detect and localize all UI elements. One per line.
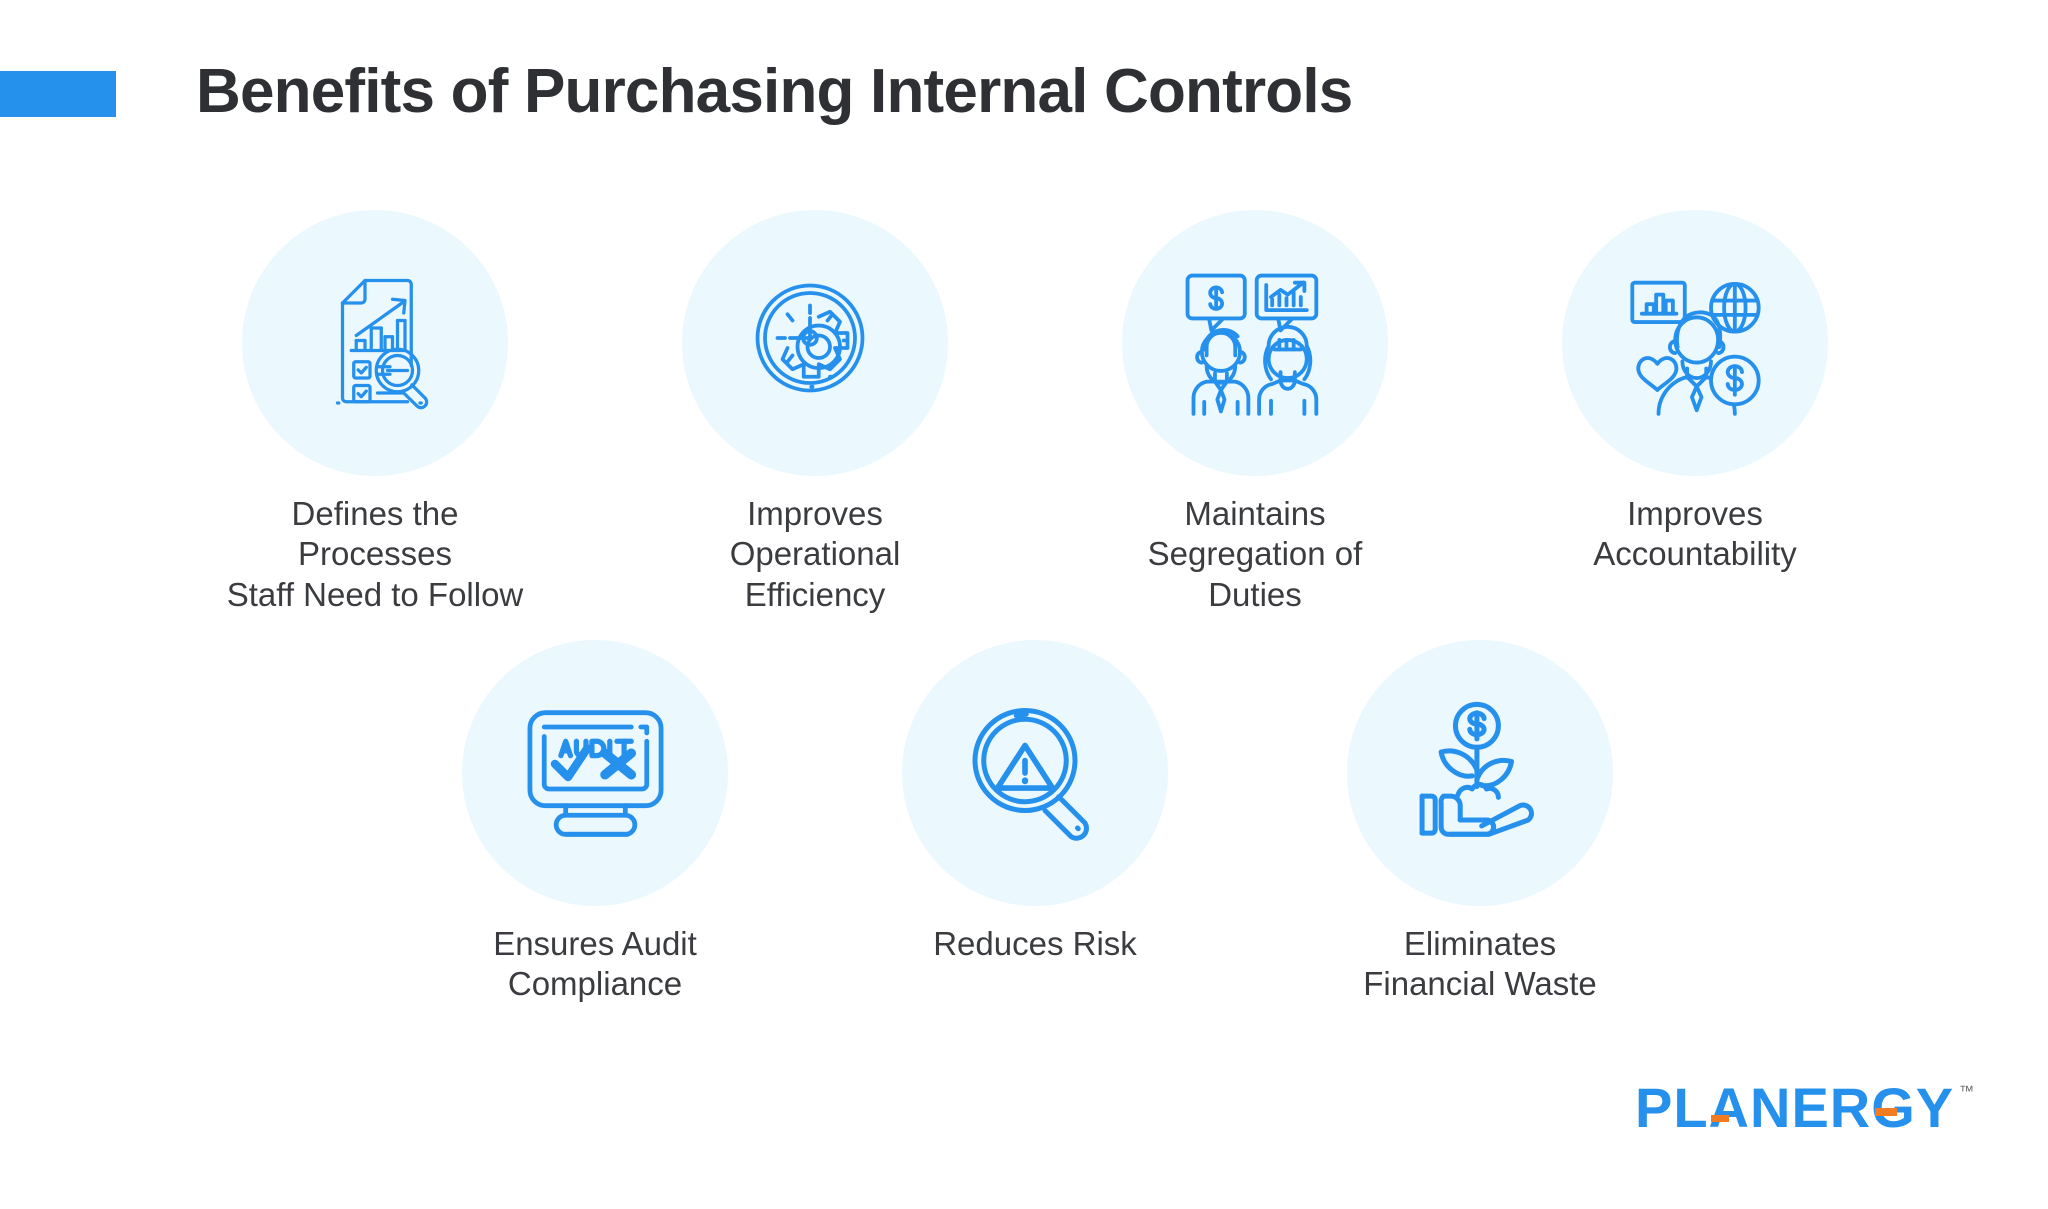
logo-accent-a [1711, 1115, 1729, 1122]
icon-circle [242, 210, 508, 476]
planergy-wordmark-icon: PLANERGY [1635, 1079, 1955, 1143]
logo-wordmark: PLANERGY [1635, 1079, 1955, 1148]
clock-gear-icon [740, 268, 890, 418]
benefit-card-operational-efficiency: Improves Operational Efficiency [665, 210, 965, 615]
title-accent-bar [0, 71, 116, 117]
icon-circle [1562, 210, 1828, 476]
benefit-card-reduces-risk: Reduces Risk [885, 640, 1185, 964]
benefit-card-segregation-of-duties: Maintains Segregation of Duties [1105, 210, 1405, 615]
benefit-label: Reduces Risk [885, 924, 1185, 964]
benefit-label: Ensures Audit Compliance [445, 924, 745, 1005]
benefit-label: Improves Accountability [1545, 494, 1845, 575]
icon-circle [682, 210, 948, 476]
logo-text: PLANERGY [1635, 1079, 1954, 1139]
benefit-card-audit-compliance: Ensures Audit Compliance [445, 640, 745, 1005]
benefit-label: Improves Operational Efficiency [665, 494, 965, 615]
benefit-card-eliminates-financial-waste: Eliminates Financial Waste [1330, 640, 1630, 1005]
icon-circle [1347, 640, 1613, 906]
audit-monitor-icon [518, 696, 673, 851]
logo-accent-g [1875, 1108, 1897, 1116]
benefit-card-accountability: Improves Accountability [1545, 210, 1845, 575]
benefit-label: Defines the Processes Staff Need to Foll… [225, 494, 525, 615]
hand-money-plant-icon [1403, 696, 1558, 851]
person-globe-chart-dollar-icon [1618, 266, 1773, 421]
page-title: Benefits of Purchasing Internal Controls [196, 56, 1352, 127]
document-chart-magnifier-icon [300, 268, 450, 418]
page-header: Benefits of Purchasing Internal Controls [0, 0, 2048, 170]
magnifier-warning-icon [960, 698, 1110, 848]
benefit-card-defines-processes: Defines the Processes Staff Need to Foll… [225, 210, 525, 615]
logo-trademark: ™ [1959, 1083, 1974, 1100]
icon-circle [1122, 210, 1388, 476]
benefit-label: Maintains Segregation of Duties [1105, 494, 1405, 615]
planergy-logo: PLANERGY ™ [1635, 1079, 1974, 1141]
icon-circle [462, 640, 728, 906]
icon-circle [902, 640, 1168, 906]
two-people-speech-bubbles-icon [1178, 266, 1333, 421]
benefit-label: Eliminates Financial Waste [1330, 924, 1630, 1005]
